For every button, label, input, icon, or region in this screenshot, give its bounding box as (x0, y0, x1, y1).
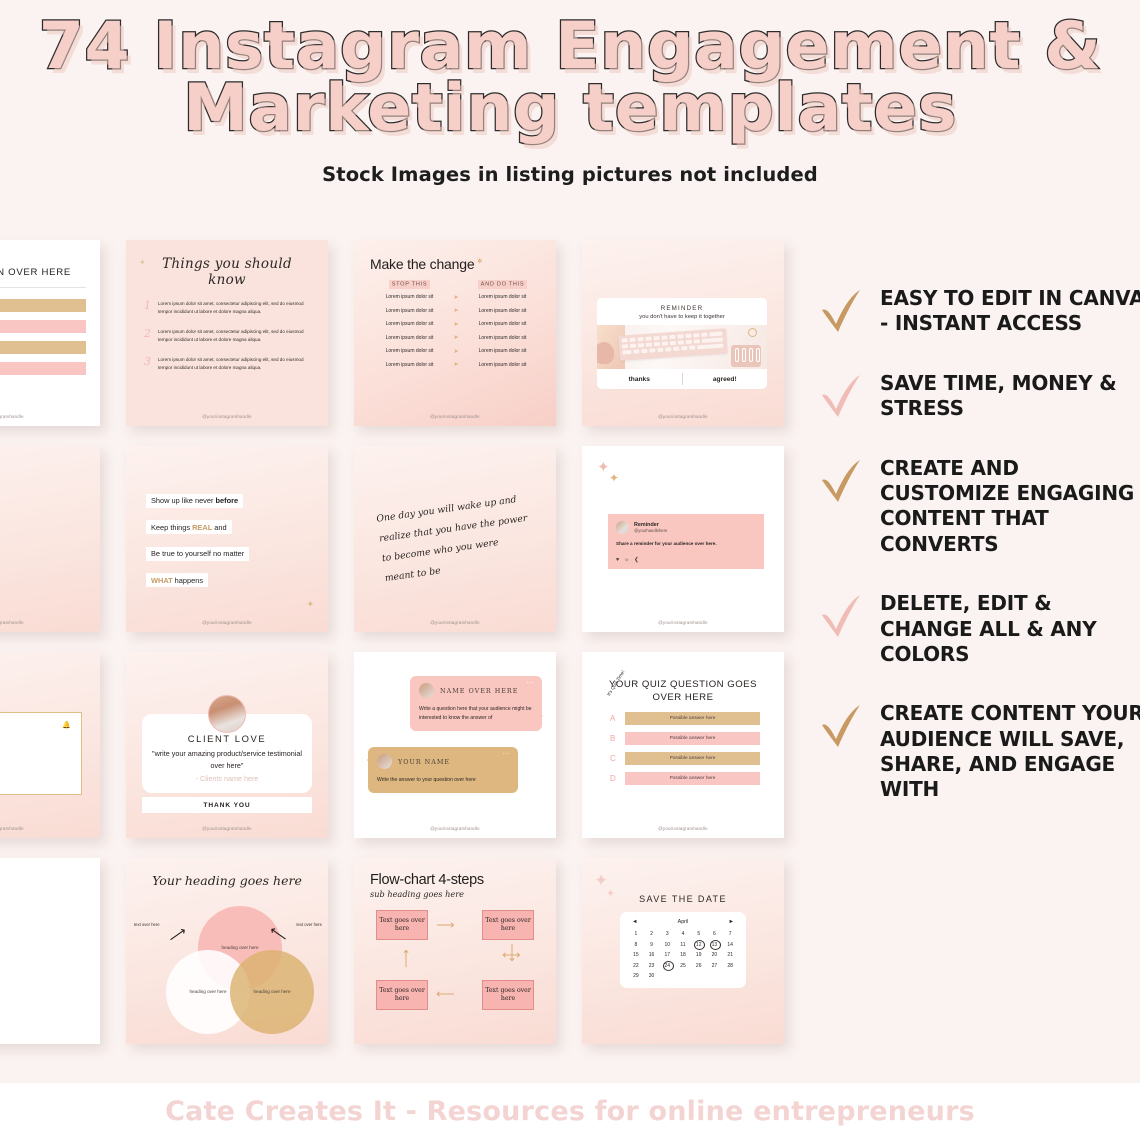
more-options-icon[interactable]: ⋯ (503, 753, 511, 757)
card-reminder-post[interactable]: ✦ ✦ Reminder @yourhandlehere Share a rem… (582, 446, 784, 632)
more-options-icon[interactable]: ⋯ (527, 682, 535, 686)
card-heading: own (0, 466, 100, 483)
reminder-title: REMINDER (597, 298, 767, 312)
instagram-handle: @yourinstagramhandle (0, 620, 100, 625)
template-showcase: QUIZ QUESTION OVER HERE Possible answer … (0, 232, 1140, 1140)
arrow-icon-up: ⟶ (399, 949, 412, 968)
instagram-handle: @yourinstagramhandle (354, 620, 556, 625)
flow-box[interactable]: Text goes over here (376, 980, 428, 1010)
page-header: 74 Instagram Engagement & Marketing temp… (0, 0, 1140, 186)
template-grid: QUIZ QUESTION OVER HERE Possible answer … (0, 232, 835, 1056)
chat-bubble-answer: ⋯ YOUR NAME Write the answer to your que… (368, 747, 518, 793)
text-line: Show up like never before (146, 494, 243, 508)
avatar (419, 683, 434, 698)
cell-right: Lorem ipsum dolor sit (463, 308, 542, 314)
template-cell: It's Quiz Time! YOUR QUIZ QUESTION GOES … (569, 644, 797, 850)
footer-bar: Cate Creates It - Resources for online e… (0, 1083, 1140, 1140)
check-icon (820, 373, 868, 419)
calendar-days: 1234567891011121314151617181920212223242… (628, 931, 738, 979)
card-subheading: sub heading goes here (370, 889, 556, 899)
template-row-4: s here 1 Lorem ipsum dolor sit amet, con… (0, 850, 835, 1056)
option-text: Possible answer here (625, 772, 760, 785)
post-body: Share a reminder for your audience over … (616, 541, 756, 546)
option-letter: B (610, 734, 617, 743)
instagram-handle: @yourinstagramhandle (126, 620, 328, 625)
feature-text: DELETE, EDIT & CHANGE ALL & ANY COLORS (880, 591, 1140, 667)
line-bold: before (216, 496, 239, 505)
client-name: - Clients name here (152, 774, 302, 783)
month-label: April (678, 919, 689, 925)
feature-text: EASY TO EDIT IN CANVA - INSTANT ACCESS (880, 286, 1140, 337)
card-client-love[interactable]: CLIENT LOVE "write your amazing product/… (126, 652, 328, 838)
option-letter: D (610, 774, 617, 783)
page-subtitle: Stock Images in listing pictures not inc… (0, 163, 1140, 186)
line-accent: REAL (192, 523, 212, 532)
instagram-handle: @yourinstagramhandle (582, 826, 784, 831)
footer-text: Cate Creates It - Resources for online e… (165, 1096, 975, 1127)
comment-icon[interactable]: ☼ (624, 557, 629, 563)
title-line-2: Marketing templates (0, 78, 1140, 140)
instagram-handle: @yourinstagramhandle (0, 826, 100, 831)
item-number: 2 (144, 328, 151, 344)
curved-text: It's Quiz Time! (606, 669, 626, 696)
column-label: STOP THIS (389, 280, 431, 289)
table-row: Lorem ipsum dolor sit➤Lorem ipsum dolor … (370, 348, 542, 355)
line-text: Show up like never (151, 496, 216, 505)
template-cell: ⋯ NAME OVER HERE Write a question here t… (341, 644, 569, 850)
calendar-day[interactable]: 30 (644, 973, 660, 979)
calendar-day[interactable]: 8 (628, 942, 644, 948)
cell-right: Lorem ipsum dolor sit (463, 294, 542, 300)
template-row-2: own here @yourinstagramhandle Show up li… (0, 438, 835, 644)
calendar-widget: ◄ April ► 123456789101112131415161718192… (620, 912, 746, 988)
card-make-the-change[interactable]: Make the change ✶ STOP THIS AND DO THIS … (354, 240, 556, 426)
venn-circle-3: heading over here (230, 950, 314, 1034)
text-line: Keep things REAL and (146, 520, 232, 534)
flow-diagram: Text goes over here Text goes over here … (370, 910, 550, 1020)
paperclips-graphic (731, 345, 761, 367)
calendar-day[interactable]: 5 (691, 931, 707, 937)
quiz-option[interactable]: DPossible answer here (582, 772, 784, 785)
column-headers: STOP THIS AND DO THIS (370, 281, 542, 287)
arrow-icon: ➤ (449, 307, 463, 314)
calendar-day[interactable]: 1 (628, 931, 644, 937)
calendar-day[interactable]: 16 (644, 952, 660, 958)
cell-left: Lorem ipsum dolor sit (370, 335, 449, 341)
answer-bar[interactable]: Possible answer here (0, 362, 86, 375)
template-cell: s here 1 Lorem ipsum dolor sit amet, con… (0, 850, 113, 1056)
template-cell: own here @yourinstagramhandle (0, 438, 113, 644)
card-heading: Things you should know (144, 256, 310, 288)
arrow-icon: ➤ (449, 361, 463, 368)
list-item: 3 Lorem ipsum dolor sit amet, consectetu… (144, 356, 310, 372)
list-item: 1 Lorem ipsum dolor sit amet, consectetu… (144, 300, 310, 316)
template-row-1: QUIZ QUESTION OVER HERE Possible answer … (0, 232, 835, 438)
reminder-buttons: thanks agreed! (597, 369, 767, 389)
calendar-day[interactable]: 28 (722, 963, 738, 969)
table-row: Lorem ipsum dolor sit➤Lorem ipsum dolor … (370, 321, 542, 328)
check-icon (820, 288, 868, 334)
feature-item: CREATE AND CUSTOMIZE ENGAGING CONTENT TH… (820, 456, 1140, 558)
sparkle-icon: ✦ (306, 599, 314, 610)
line-accent: WHAT (151, 576, 173, 585)
card-pyramid[interactable]: s here 1 Lorem ipsum dolor sit amet, con… (0, 858, 100, 1044)
column-label: AND DO THIS (478, 280, 528, 289)
calendar-day[interactable]: 23 (644, 963, 660, 969)
arrow-icon: ➤ (449, 334, 463, 341)
calendar-day[interactable]: 4 (675, 931, 691, 937)
template-cell: Make the change ✶ STOP THIS AND DO THIS … (341, 232, 569, 438)
card-quiz[interactable]: It's Quiz Time! YOUR QUIZ QUESTION GOES … (582, 652, 784, 838)
arrow-icon: ➤ (449, 294, 463, 301)
cell-right: Lorem ipsum dolor sit (463, 362, 542, 368)
cell-left: Lorem ipsum dolor sit (370, 362, 449, 368)
answer-bar[interactable]: Possible answer here (0, 299, 86, 312)
calendar-day[interactable]: 13 (707, 942, 723, 948)
quote-line: e them! (0, 749, 69, 760)
template-cell: CLIENT LOVE "write your amazing product/… (113, 644, 341, 850)
table-row: Lorem ipsum dolor sit➤Lorem ipsum dolor … (370, 334, 542, 341)
share-icon[interactable]: ❮ (634, 557, 639, 563)
instagram-handle: @yourinstagramhandle (354, 414, 556, 419)
bubble-name: YOUR NAME (398, 758, 450, 766)
check-icon (820, 458, 868, 504)
calendar-day[interactable]: 19 (691, 952, 707, 958)
card-subheading: here (0, 485, 100, 495)
keyboard-graphic (618, 328, 727, 360)
feature-list: EASY TO EDIT IN CANVA - INSTANT ACCESS S… (820, 286, 1140, 837)
divider (0, 287, 86, 288)
avatar (377, 754, 392, 769)
calendar-day[interactable]: 3 (659, 931, 675, 937)
cell-left: Lorem ipsum dolor sit (370, 348, 449, 354)
option-letter: A (610, 714, 617, 723)
calendar-day[interactable]: 10 (659, 942, 675, 948)
cell-right: Lorem ipsum dolor sit (463, 321, 542, 327)
card-heading: Flow-chart 4-steps (370, 872, 556, 888)
annotation-right: text over here (296, 922, 322, 927)
stock-photo-placeholder (597, 325, 767, 369)
calendar-day[interactable]: 25 (675, 963, 691, 969)
calendar-day[interactable]: 26 (691, 963, 707, 969)
bubble-text: Write a question here that your audience… (419, 705, 533, 723)
quote-text: One day you will wake up and realize tha… (375, 489, 535, 589)
sparkle-icon: ✶ (476, 256, 484, 267)
card-things-you-should-know[interactable]: ✦ Things you should know 1 Lorem ipsum d… (126, 240, 328, 426)
instagram-handle: @yourinstagramhandle (354, 826, 556, 831)
cell-left: Lorem ipsum dolor sit (370, 321, 449, 327)
calendar-day[interactable]: 17 (659, 952, 675, 958)
feature-item: CREATE CONTENT YOUR AUDIENCE WILL SAVE, … (820, 701, 1140, 803)
avatar (616, 521, 629, 534)
thank-you-button[interactable]: THANK YOU (142, 797, 312, 813)
card-heading: Make the change (370, 256, 542, 272)
line-text: Keep things (151, 523, 192, 532)
cell-right: Lorem ipsum dolor sit (463, 335, 542, 341)
card-reminder-photo[interactable]: REMINDER you don't have to keep it toget… (582, 240, 784, 426)
bubble-header: YOUR NAME (377, 754, 509, 769)
template-cell: ✦ ✦ SAVE THE DATE ◄ April ► 123456789101… (569, 850, 797, 1056)
cell-left: Lorem ipsum dolor sit (370, 308, 449, 314)
instagram-handle: @yourinstagramhandle (0, 414, 100, 419)
check-icon (820, 703, 868, 749)
feature-text: CREATE AND CUSTOMIZE ENGAGING CONTENT TH… (880, 456, 1140, 558)
column-header-right: AND DO THIS (463, 281, 542, 287)
feature-item: DELETE, EDIT & CHANGE ALL & ANY COLORS (820, 591, 1140, 667)
quote-line: on quote or (0, 727, 69, 738)
calendar-day[interactable]: 20 (707, 952, 723, 958)
bubble-name: NAME OVER HERE (440, 687, 518, 695)
bell-icon: 🔔 (62, 721, 71, 729)
sparkle-icon: ✦ (139, 258, 146, 267)
calendar-day[interactable]: 15 (628, 952, 644, 958)
card-show-up[interactable]: Show up like never before Keep things RE… (126, 446, 328, 632)
feature-item: SAVE TIME, MONEY & STRESS (820, 371, 1140, 422)
template-cell: QUIZ QUESTION OVER HERE Possible answer … (0, 232, 113, 438)
text-line: WHAT happens (146, 573, 208, 587)
card-venn-diagram[interactable]: Your heading goes here heading over here… (126, 858, 328, 1044)
template-cell: 🔔 on quote or for your audience e them! … (0, 644, 113, 850)
calendar-day[interactable]: 7 (722, 931, 738, 937)
calendar-day[interactable]: 18 (675, 952, 691, 958)
item-text: Lorem ipsum dolor sit amet, consectetur … (158, 300, 310, 316)
template-cell: Your heading goes here heading over here… (113, 850, 341, 1056)
card-save-the-date[interactable]: ✦ ✦ SAVE THE DATE ◄ April ► 123456789101… (582, 858, 784, 1044)
flow-box[interactable]: Text goes over here (482, 980, 534, 1010)
template-cell: Show up like never before Keep things RE… (113, 438, 341, 644)
option-text: Possible answer here (625, 752, 760, 765)
reminder-subtitle: you don't have to keep it together (597, 312, 767, 325)
option-letter: C (610, 754, 617, 763)
instagram-handle: @yourinstagramhandle (126, 826, 328, 831)
circle-label: heading over here (221, 944, 258, 951)
template-cell: ✦ ✦ Reminder @yourhandlehere Share a rem… (569, 438, 797, 644)
calendar-day[interactable]: 27 (707, 963, 723, 969)
option-text: Possible answer here (625, 732, 760, 745)
card-heading: CLIENT LOVE (152, 733, 302, 744)
page-title: 74 Instagram Engagement & Marketing temp… (0, 16, 1140, 141)
check-icon (820, 593, 868, 639)
instagram-handle: @yourinstagramhandle (126, 414, 328, 419)
line-text: Be true to yourself no matter (151, 549, 244, 558)
avatar (208, 695, 246, 733)
feature-text: SAVE TIME, MONEY & STRESS (880, 371, 1140, 422)
annotation-left: text over here (134, 922, 160, 927)
calendar-day[interactable]: 11 (675, 942, 691, 948)
card-notification-quote[interactable]: 🔔 on quote or for your audience e them! … (0, 652, 100, 838)
card-quiz-question-1[interactable]: QUIZ QUESTION OVER HERE Possible answer … (0, 240, 100, 426)
template-row-3: 🔔 on quote or for your audience e them! … (0, 644, 835, 850)
text-line: Be true to yourself no matter (146, 547, 249, 561)
calendar-day[interactable]: 9 (644, 942, 660, 948)
arrow-icon: ⟶ (166, 924, 189, 945)
sparkle-icon: ✦ (606, 889, 615, 900)
item-number: 3 (144, 356, 151, 372)
cell-left: Lorem ipsum dolor sit (370, 294, 449, 300)
quiz-option[interactable]: APossible answer here (582, 712, 784, 725)
template-cell: Flow-chart 4-steps sub heading goes here… (341, 850, 569, 1056)
arrow-icon-down: ⟶ (506, 943, 519, 962)
answer-bar[interactable]: Possible answer here (0, 320, 86, 333)
card-script-quote[interactable]: One day you will wake up and realize tha… (354, 446, 556, 632)
table-row: Lorem ipsum dolor sit➤Lorem ipsum dolor … (370, 361, 542, 368)
post-header: Reminder @yourhandlehere (616, 521, 756, 534)
quiz-option[interactable]: BPossible answer here (582, 732, 784, 745)
bubble-text: Write the answer to your question over h… (377, 776, 509, 785)
agreed-button[interactable]: agreed! (683, 369, 768, 389)
card-heading: Your heading goes here (126, 858, 328, 888)
line-text: happens (173, 576, 203, 585)
item-number: 1 (144, 300, 151, 316)
template-cell: REMINDER you don't have to keep it toget… (569, 232, 797, 438)
chat-bubble-question: ⋯ NAME OVER HERE Write a question here t… (410, 676, 542, 731)
arrow-icon: ➤ (449, 348, 463, 355)
quote-box: 🔔 on quote or for your audience e them! … (0, 712, 82, 795)
card-heading: QUIZ QUESTION OVER HERE (0, 266, 86, 280)
list-item: 2 Lorem ipsum dolor sit amet, consectetu… (144, 328, 310, 344)
title-line-1: 74 Instagram Engagement & (0, 16, 1140, 78)
calendar-day[interactable]: 22 (628, 963, 644, 969)
thanks-button[interactable]: thanks (597, 369, 682, 389)
template-cell: One day you will wake up and realize tha… (341, 438, 569, 644)
instagram-handle: @yourinstagramhandle (582, 414, 784, 419)
item-text: Lorem ipsum dolor sit amet, consectetur … (158, 328, 310, 344)
instagram-handle: @yourinstagramhandle (582, 620, 784, 625)
calendar-day[interactable]: 29 (628, 973, 644, 979)
circle-label: heading over here (253, 988, 290, 995)
post-mockup: Reminder @yourhandlehere Share a reminde… (608, 514, 764, 569)
feature-item: EASY TO EDIT IN CANVA - INSTANT ACCESS (820, 286, 1140, 337)
calendar-day[interactable]: 12 (691, 942, 707, 948)
reminder-widget: REMINDER you don't have to keep it toget… (597, 298, 767, 389)
calendar-day[interactable]: 24 (659, 963, 675, 969)
sparkle-icon: ✦ (609, 472, 619, 484)
curved-label: It's Quiz Time! (604, 674, 638, 694)
post-handle: @yourhandlehere (634, 528, 667, 533)
card-flow-chart[interactable]: Flow-chart 4-steps sub heading goes here… (354, 858, 556, 1044)
template-cell: ✦ Things you should know 1 Lorem ipsum d… (113, 232, 341, 438)
flow-box[interactable]: Text goes over here (376, 910, 428, 940)
quote-line: for your audience (0, 738, 69, 749)
item-text: Lorem ipsum dolor sit amet, consectetur … (158, 356, 310, 372)
next-month-icon[interactable]: ► (728, 919, 734, 925)
calendar-day[interactable]: 21 (722, 952, 738, 958)
arrow-icon: ➤ (449, 321, 463, 328)
bubble-header: NAME OVER HERE (419, 683, 533, 698)
option-text: Possible answer here (625, 712, 760, 725)
flow-box[interactable]: Text goes over here (482, 910, 534, 940)
circle-label: heading over here (189, 988, 226, 995)
arrow-icon-right: ⟶ (436, 918, 455, 931)
cell-right: Lorem ipsum dolor sit (463, 348, 542, 354)
calendar-day[interactable]: 14 (722, 942, 738, 948)
heart-icon[interactable]: ♥ (616, 557, 619, 563)
calendar-nav: ◄ April ► (628, 919, 738, 931)
table-row: Lorem ipsum dolor sit➤Lorem ipsum dolor … (370, 294, 542, 301)
decor-ring (748, 328, 757, 337)
quiz-option[interactable]: CPossible answer here (582, 752, 784, 765)
table-row: Lorem ipsum dolor sit➤Lorem ipsum dolor … (370, 307, 542, 314)
feature-text: CREATE CONTENT YOUR AUDIENCE WILL SAVE, … (880, 701, 1140, 803)
line-text: and (212, 523, 226, 532)
sparkle-icon: ✦ (597, 460, 610, 475)
calendar-day[interactable]: 2 (644, 931, 660, 937)
testimonial-text: "write your amazing product/service test… (152, 748, 302, 771)
arrow-icon-left: ⟶ (436, 988, 455, 1001)
column-header-left: STOP THIS (370, 281, 449, 287)
post-actions: ♥ ☼ ❮ (616, 557, 756, 563)
sparkle-icon: ✦ (594, 872, 608, 889)
card-chat-bubbles[interactable]: ⋯ NAME OVER HERE Write a question here t… (354, 652, 556, 838)
prev-month-icon[interactable]: ◄ (632, 919, 638, 925)
card-crown-clipped[interactable]: own here @yourinstagramhandle (0, 446, 100, 632)
calendar-day[interactable]: 6 (707, 931, 723, 937)
answer-bar[interactable]: Possible answer here (0, 341, 86, 354)
